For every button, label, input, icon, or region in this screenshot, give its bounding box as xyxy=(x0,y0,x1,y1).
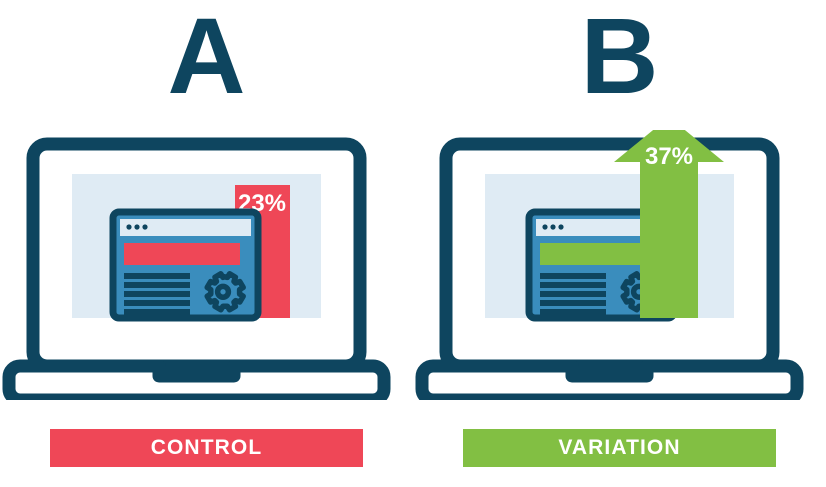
ab-test-illustration: A 23% xyxy=(0,0,826,487)
laptop-base-a xyxy=(9,366,384,400)
laptop-frame-b xyxy=(413,130,826,400)
cta-label-control[interactable]: CONTROL xyxy=(50,429,363,467)
laptop-base-b xyxy=(422,366,797,400)
cta-label-variation[interactable]: VARIATION xyxy=(463,429,776,467)
variant-panel-b: B xyxy=(413,0,826,487)
variant-letter-b: B xyxy=(413,0,826,112)
laptop-lid-a xyxy=(33,144,360,366)
variant-letter-a: A xyxy=(0,0,413,112)
laptop-lid-b xyxy=(446,144,773,366)
laptop-frame-a xyxy=(0,130,413,400)
variant-panel-a: A 23% xyxy=(0,0,413,487)
